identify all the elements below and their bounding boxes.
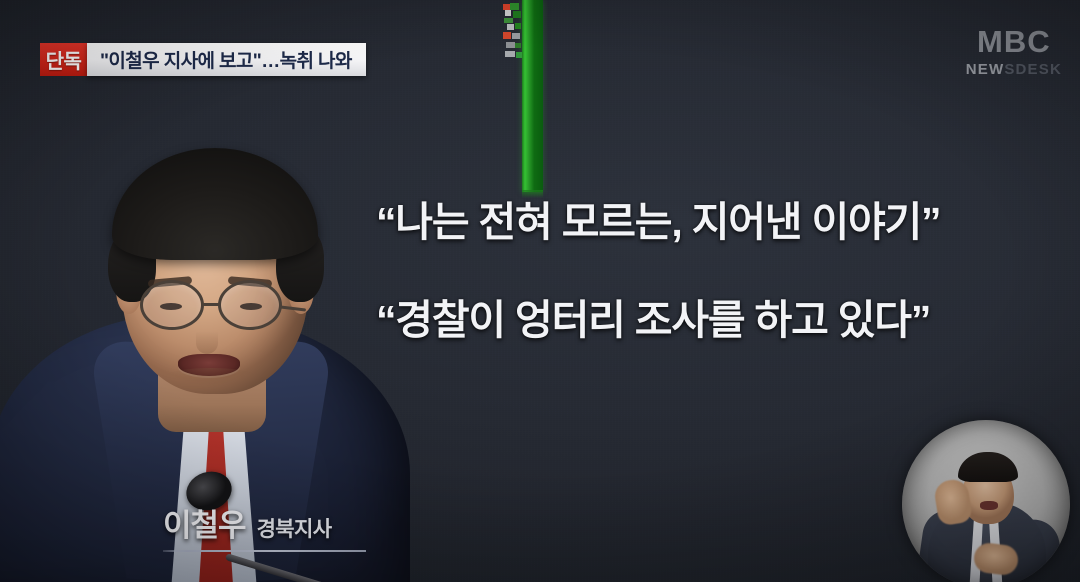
- speaker-hair: [112, 148, 318, 260]
- lower-third-nametag: 이철우 경북지사: [163, 500, 366, 552]
- nametag-line: 이철우 경북지사: [163, 500, 366, 545]
- newsdesk-wordmark: NEWSDESK: [966, 62, 1062, 77]
- person-name: 이철우: [163, 500, 246, 545]
- nametag-underline: [163, 550, 366, 552]
- eyeglass-lens-right: [218, 280, 282, 330]
- broadcast-frame: 단독 "이철우 지사에 보고"…녹취 나와 MBC NEWSDESK “나는 전…: [0, 0, 1080, 582]
- headline-text: "이철우 지사에 보고"…녹취 나와: [87, 43, 366, 76]
- newsdesk-prefix: NEW: [966, 61, 1005, 78]
- newsdesk-suffix: SDESK: [1004, 61, 1062, 78]
- sign-language-interpreter: [902, 420, 1070, 582]
- headline-banner: 단독 "이철우 지사에 보고"…녹취 나와: [40, 43, 366, 76]
- quote-line-1: “나는 전혀 모르는, 지어낸 이야기”: [376, 198, 1036, 246]
- nose: [196, 316, 218, 354]
- chin-shadow: [156, 368, 266, 394]
- eyeglass-lens-left: [140, 280, 204, 330]
- video-glitch-artifact: [501, 2, 529, 64]
- interpreter-mouth: [980, 501, 998, 510]
- mbc-logo: MBC NEWSDESK: [966, 26, 1062, 77]
- interpreter-hair: [958, 452, 1018, 482]
- quote-line-2: “경찰이 엉터리 조사를 하고 있다”: [376, 296, 1036, 344]
- person-title: 경북지사: [257, 513, 332, 543]
- eyeglass-bridge: [202, 303, 220, 306]
- mbc-logo-wordmark: MBC: [966, 26, 1062, 57]
- exclusive-badge: 단독: [40, 43, 87, 76]
- quote-overlay: “나는 전혀 모르는, 지어낸 이야기” “경찰이 엉터리 조사를 하고 있다”: [376, 198, 1036, 345]
